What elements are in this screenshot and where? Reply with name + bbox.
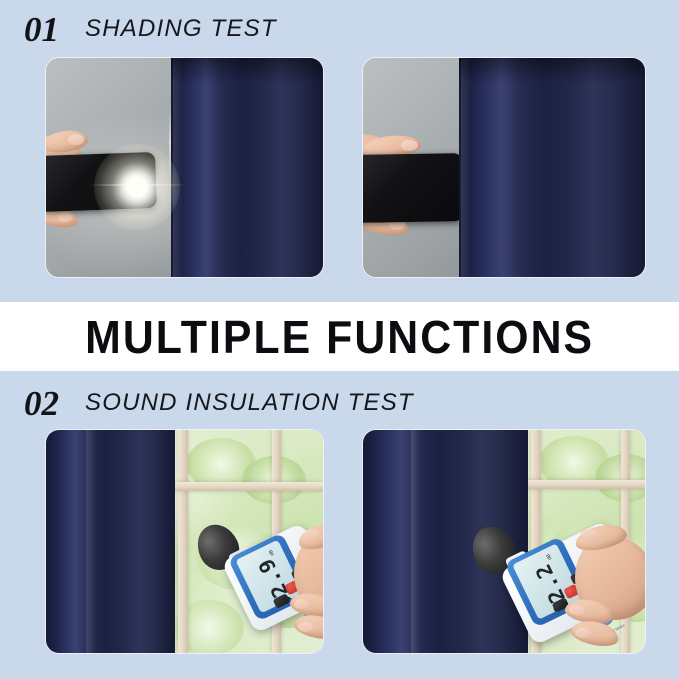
- fingernail-index: [68, 134, 84, 145]
- photo-panel-shading-after: [363, 58, 645, 277]
- banner: MULTIPLE FUNCTIONS: [0, 302, 679, 371]
- navy-curtain: [46, 430, 175, 653]
- curtain-edge-highlight: [461, 58, 471, 277]
- fingernail-index: [581, 529, 597, 539]
- navy-curtain: [171, 58, 323, 277]
- fingernail-middle: [294, 599, 309, 609]
- photo-panel-sound-before: 52.9 dB: [46, 430, 323, 653]
- flashlight-ray-vertical: [169, 107, 171, 179]
- photo-panel-sound-after: 42.2 dB Sound Level Meter: [363, 430, 645, 653]
- window-mullion-horizontal: [527, 480, 645, 489]
- fingernail-middle: [569, 605, 585, 615]
- section-number-02: 02: [24, 386, 59, 421]
- fingernail-ring: [575, 628, 591, 638]
- section-title-01: SHADING TEST: [85, 17, 277, 41]
- section-header-02: 02 SOUND INSULATION TEST: [0, 374, 679, 432]
- section-header-01: 01 SHADING TEST: [0, 0, 679, 58]
- product-feature-graphic: 01 SHADING TEST: [0, 0, 679, 679]
- curtain-top-shadow: [171, 58, 323, 84]
- window-mullion-vertical: [178, 430, 188, 653]
- fingernail-ring: [298, 622, 313, 632]
- section-number-01: 01: [24, 12, 59, 47]
- fingernail-index: [304, 529, 319, 539]
- foliage-cluster: [595, 454, 645, 502]
- banner-title: MULTIPLE FUNCTIONS: [85, 310, 594, 364]
- window-mullion-horizontal: [174, 482, 323, 491]
- curtain-edge-highlight: [86, 430, 96, 653]
- photo-panel-shading-before: [46, 58, 323, 277]
- flashlight-ray-horizontal: [90, 184, 186, 186]
- fingernail-index: [401, 140, 418, 151]
- fingernail-ring: [58, 213, 72, 222]
- navy-curtain: [459, 58, 645, 277]
- curtain-edge-highlight: [411, 430, 421, 653]
- curtain-top-shadow: [459, 58, 645, 84]
- section-title-02: SOUND INSULATION TEST: [85, 391, 414, 415]
- smartphone: [363, 153, 464, 223]
